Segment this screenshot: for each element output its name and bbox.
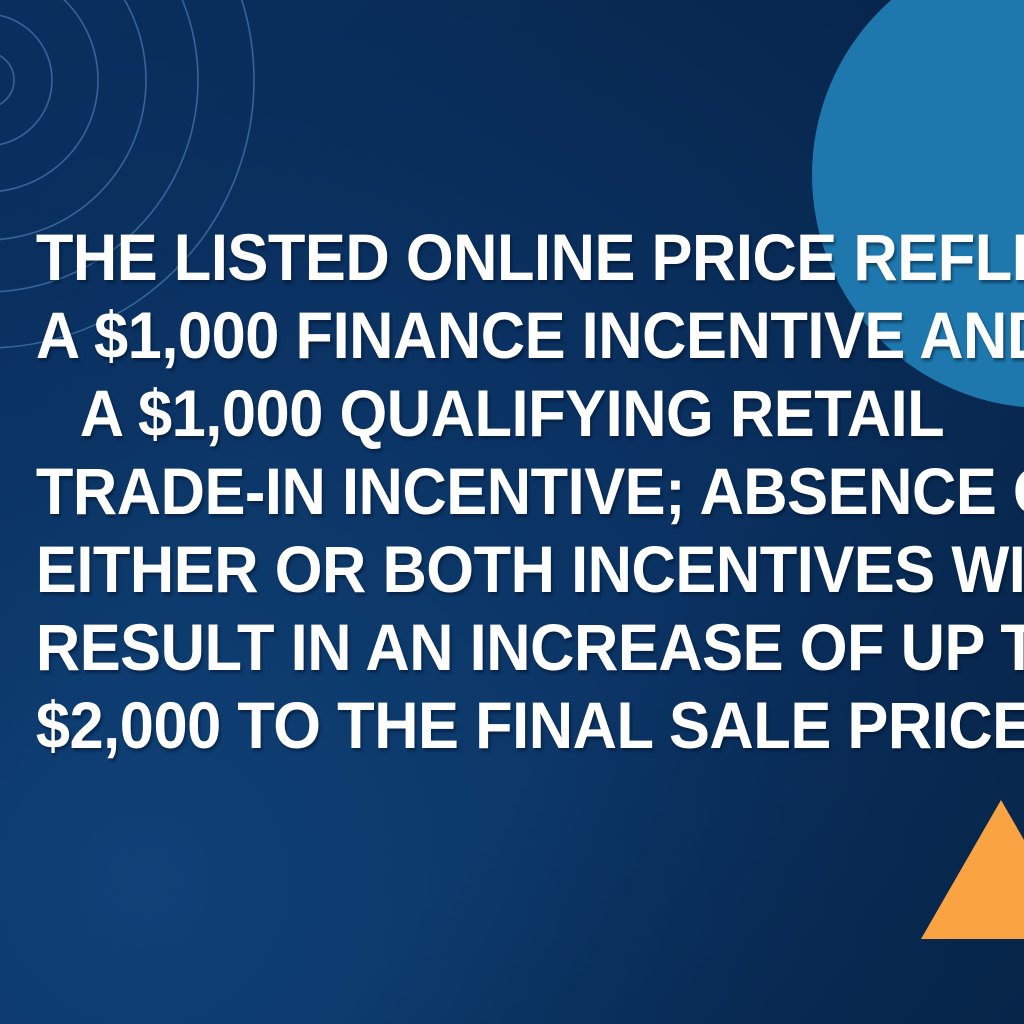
headline-line-3: A $1,000 QUALIFYING RETAIL (36, 374, 988, 452)
headline-line-5: EITHER OR BOTH INCENTIVES WILL (36, 530, 988, 608)
headline-line-4: TRADE-IN INCENTIVE; ABSENCE OF (36, 452, 988, 530)
headline-line-2: A $1,000 FINANCE INCENTIVE AND (36, 296, 988, 374)
headline-line-1: THE LISTED ONLINE PRICE REFLECTS (36, 218, 988, 296)
orange-triangle-decoration (921, 800, 1024, 939)
disclaimer-headline: THE LISTED ONLINE PRICE REFLECTS A $1,00… (36, 218, 988, 764)
headline-line-6: RESULT IN AN INCREASE OF UP TO (36, 608, 988, 686)
headline-line-7: $2,000 TO THE FINAL SALE PRICE. (36, 686, 988, 764)
promo-disclaimer-canvas: THE LISTED ONLINE PRICE REFLECTS A $1,00… (0, 0, 1024, 1024)
